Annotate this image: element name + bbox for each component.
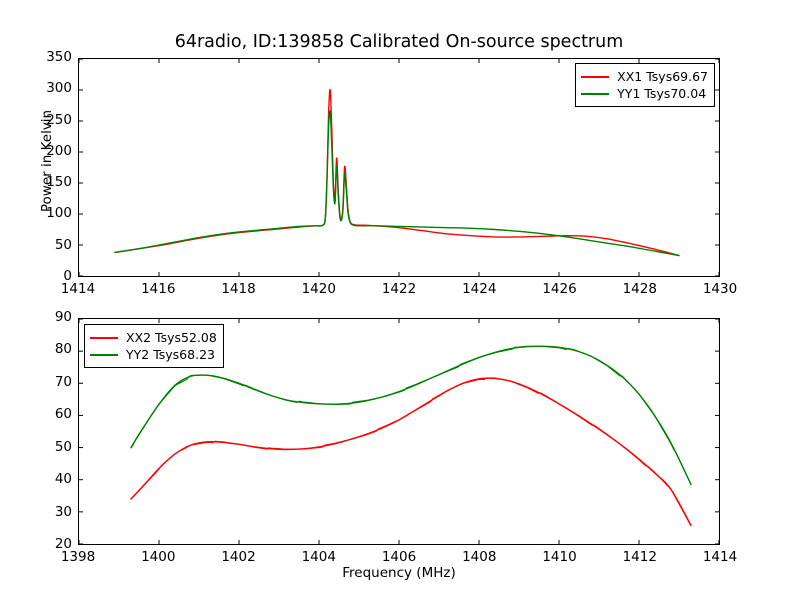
- legend-color-swatch-xx2: [90, 337, 118, 339]
- y-axis-tick-label: 0: [26, 268, 72, 284]
- x-axis-tick-label: 1430: [690, 281, 750, 297]
- y-axis-tick-label: 50: [26, 439, 72, 455]
- y-axis-tick-label: 50: [26, 237, 72, 253]
- bottom-plot-x-axis-label: Frequency (MHz): [78, 565, 720, 581]
- x-axis-tick-label: 1406: [369, 549, 429, 565]
- legend-color-swatch-yy2: [90, 354, 118, 356]
- legend-label-yy1: YY1 Tsys70.04: [617, 86, 706, 101]
- spectrum-figure: 64radio, ID:139858 Calibrated On-source …: [0, 0, 800, 600]
- x-axis-tick-label: 1416: [128, 281, 188, 297]
- x-axis-tick-label: 1410: [530, 549, 590, 565]
- legend-label-xx1: XX1 Tsys69.67: [617, 69, 708, 84]
- x-axis-tick-label: 1404: [289, 549, 349, 565]
- data-series-line: [115, 111, 679, 256]
- legend-item: YY2 Tsys68.23: [90, 346, 217, 363]
- x-axis-tick-label: 1428: [610, 281, 670, 297]
- x-axis-tick-label: 1400: [128, 549, 188, 565]
- legend-item: YY1 Tsys70.04: [581, 85, 708, 102]
- x-axis-tick-label: 1412: [610, 549, 670, 565]
- y-axis-tick-label: 100: [26, 205, 72, 221]
- x-axis-tick-label: 1420: [289, 281, 349, 297]
- legend-label-yy2: YY2 Tsys68.23: [126, 347, 215, 362]
- page-title: 64radio, ID:139858 Calibrated On-source …: [78, 32, 720, 52]
- y-axis-tick-label: 90: [26, 309, 72, 325]
- top-plot-axes: XX1 Tsys69.67 YY1 Tsys70.04: [78, 58, 720, 277]
- y-axis-tick-label: 40: [26, 471, 72, 487]
- y-axis-tick-label: 80: [26, 341, 72, 357]
- legend-item: XX2 Tsys52.08: [90, 329, 217, 346]
- data-series-noise: [131, 378, 691, 526]
- x-axis-tick-label: 1422: [369, 281, 429, 297]
- y-axis-tick-label: 200: [26, 143, 72, 159]
- y-axis-tick-label: 60: [26, 406, 72, 422]
- y-axis-tick-label: 350: [26, 49, 72, 65]
- x-axis-tick-label: 1418: [209, 281, 269, 297]
- data-series-line: [131, 378, 691, 525]
- x-axis-tick-label: 1426: [530, 281, 590, 297]
- legend-label-xx2: XX2 Tsys52.08: [126, 330, 217, 345]
- x-axis-tick-label: 1408: [449, 549, 509, 565]
- data-series-line: [115, 90, 679, 256]
- y-axis-tick-label: 30: [26, 504, 72, 520]
- y-axis-tick-label: 250: [26, 112, 72, 128]
- x-axis-tick-label: 1414: [690, 549, 750, 565]
- y-axis-tick-label: 150: [26, 174, 72, 190]
- y-axis-tick-label: 20: [26, 536, 72, 552]
- x-axis-tick-label: 1424: [449, 281, 509, 297]
- legend-color-swatch-xx1: [581, 76, 609, 78]
- top-plot-legend: XX1 Tsys69.67 YY1 Tsys70.04: [575, 63, 715, 107]
- y-axis-tick-label: 300: [26, 80, 72, 96]
- bottom-plot-legend: XX2 Tsys52.08 YY2 Tsys68.23: [84, 324, 224, 368]
- y-axis-tick-label: 70: [26, 374, 72, 390]
- legend-item: XX1 Tsys69.67: [581, 68, 708, 85]
- x-axis-tick-label: 1402: [209, 549, 269, 565]
- bottom-plot-axes: XX2 Tsys52.08 YY2 Tsys68.23: [78, 318, 720, 545]
- legend-color-swatch-yy1: [581, 93, 609, 95]
